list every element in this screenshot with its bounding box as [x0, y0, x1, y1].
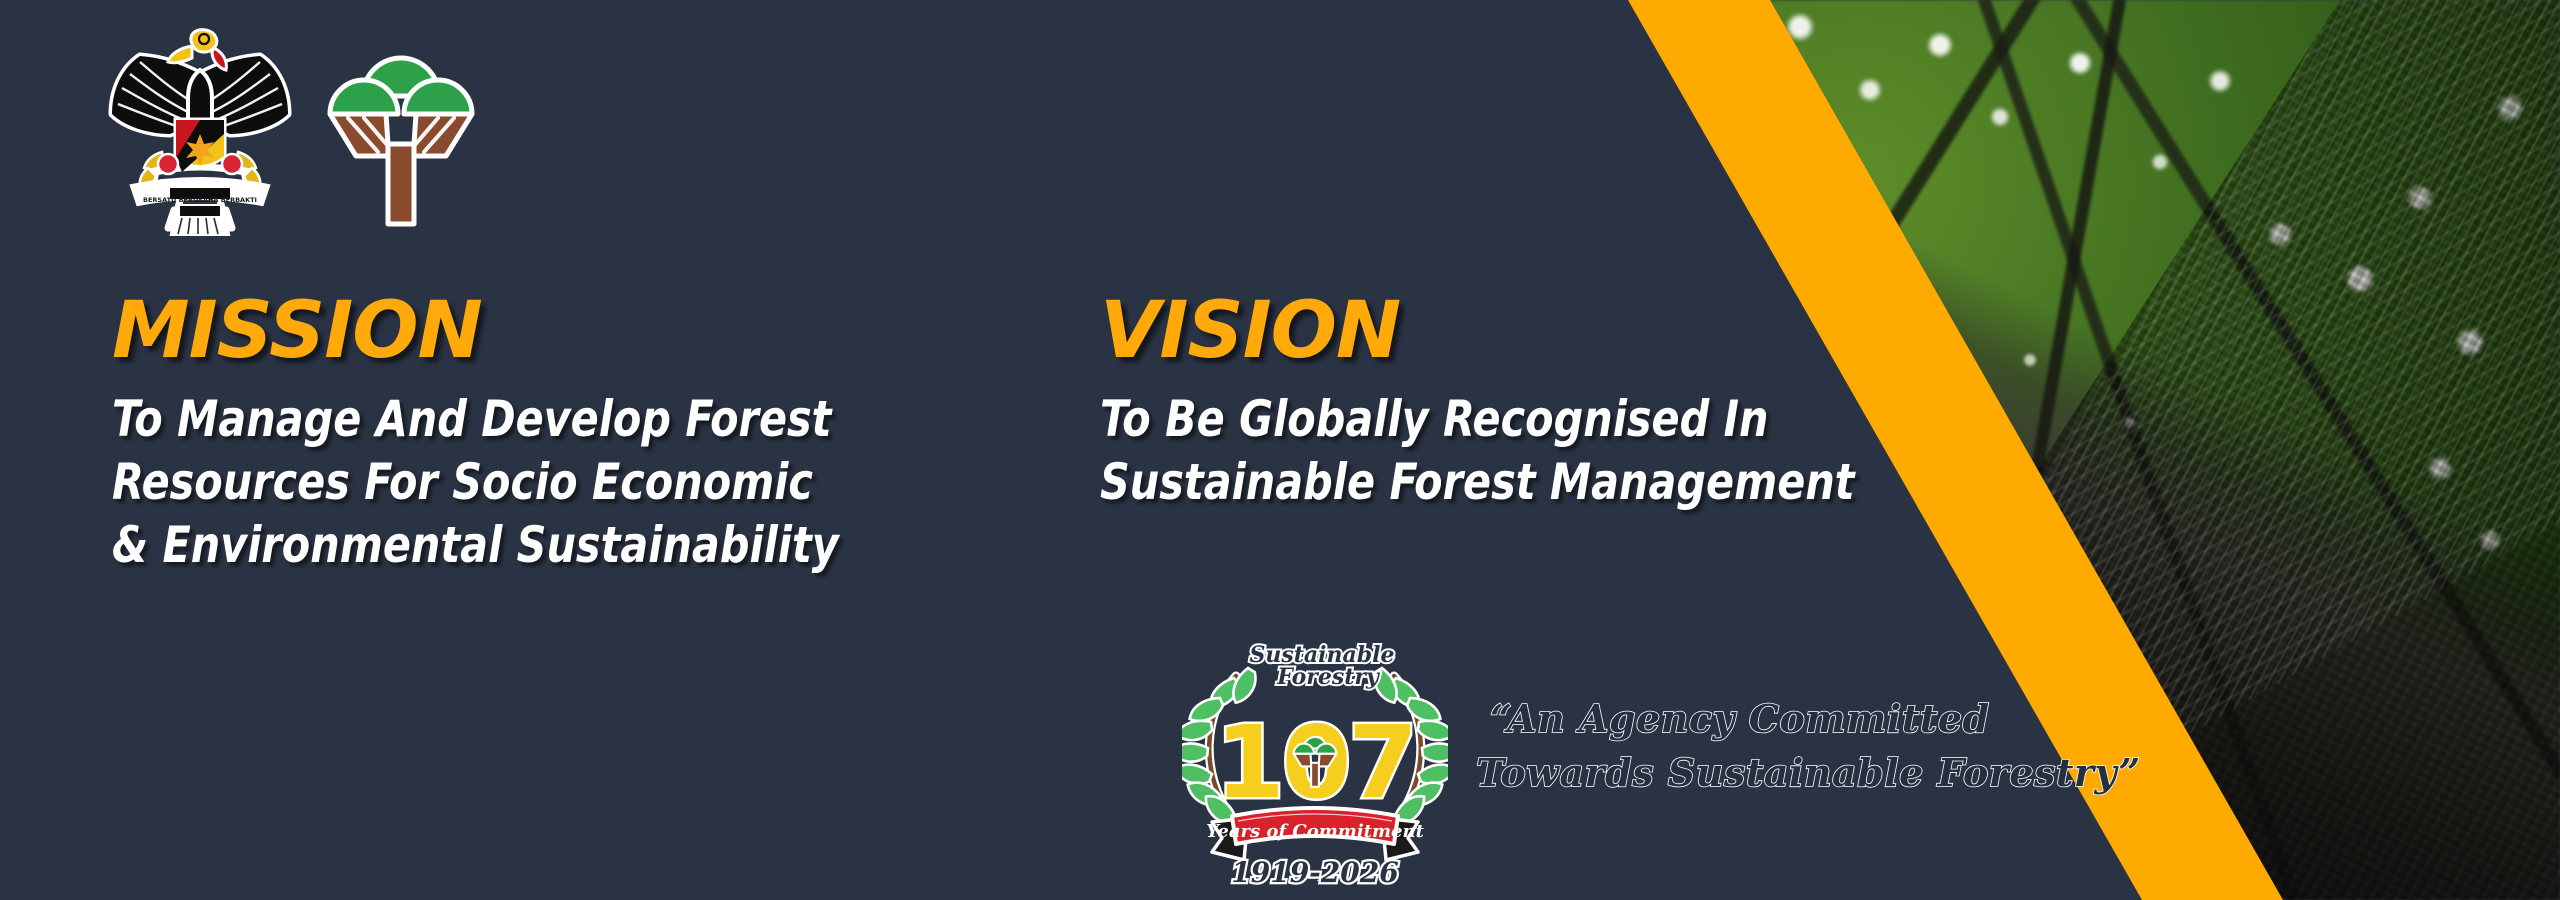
mission-line-2: Resources For Socio Economic — [112, 451, 839, 514]
anniversary-emblem-107: Sustainable Forestry 107 Years of Commit… — [1182, 622, 1448, 890]
tagline-line-2: Towards Sustainable Forestry” — [1476, 750, 2141, 795]
vision-line-2: Sustainable Forest Management — [1100, 451, 1855, 514]
emblem-ribbon-text: Years of Commitment — [1206, 821, 1424, 842]
mission-heading: MISSION — [112, 292, 902, 370]
mission-line-1: To Manage And Develop Forest — [112, 388, 839, 451]
tagline-line-1: “An Agency Committed — [1490, 696, 1990, 741]
forest-department-tree-logo-icon — [326, 52, 476, 230]
logo-row: BERSATU BERUSAHA BERBAKTI — [96, 22, 476, 238]
vision-block: VISION To Be Globally Recognised In Sust… — [1100, 292, 1920, 514]
crest-motto: BERSATU BERUSAHA BERBAKTI — [143, 196, 257, 204]
tagline: “An Agency Committed Towards Sustainable… — [1470, 688, 2090, 808]
sarawak-state-crest-icon: BERSATU BERUSAHA BERBAKTI — [96, 22, 304, 238]
emblem-years: 1919-2026 — [1231, 856, 1398, 889]
mission-vision-banner: BERSATU BERUSAHA BERBAKTI MISS — [0, 0, 2560, 900]
vision-line-1: To Be Globally Recognised In — [1100, 388, 1855, 451]
emblem-top-line-2: Forestry — [1276, 664, 1381, 690]
vision-heading: VISION — [1100, 292, 1920, 370]
mission-block: MISSION To Manage And Develop Forest Res… — [112, 292, 902, 577]
mission-line-3: & Environmental Sustainability — [112, 514, 839, 577]
